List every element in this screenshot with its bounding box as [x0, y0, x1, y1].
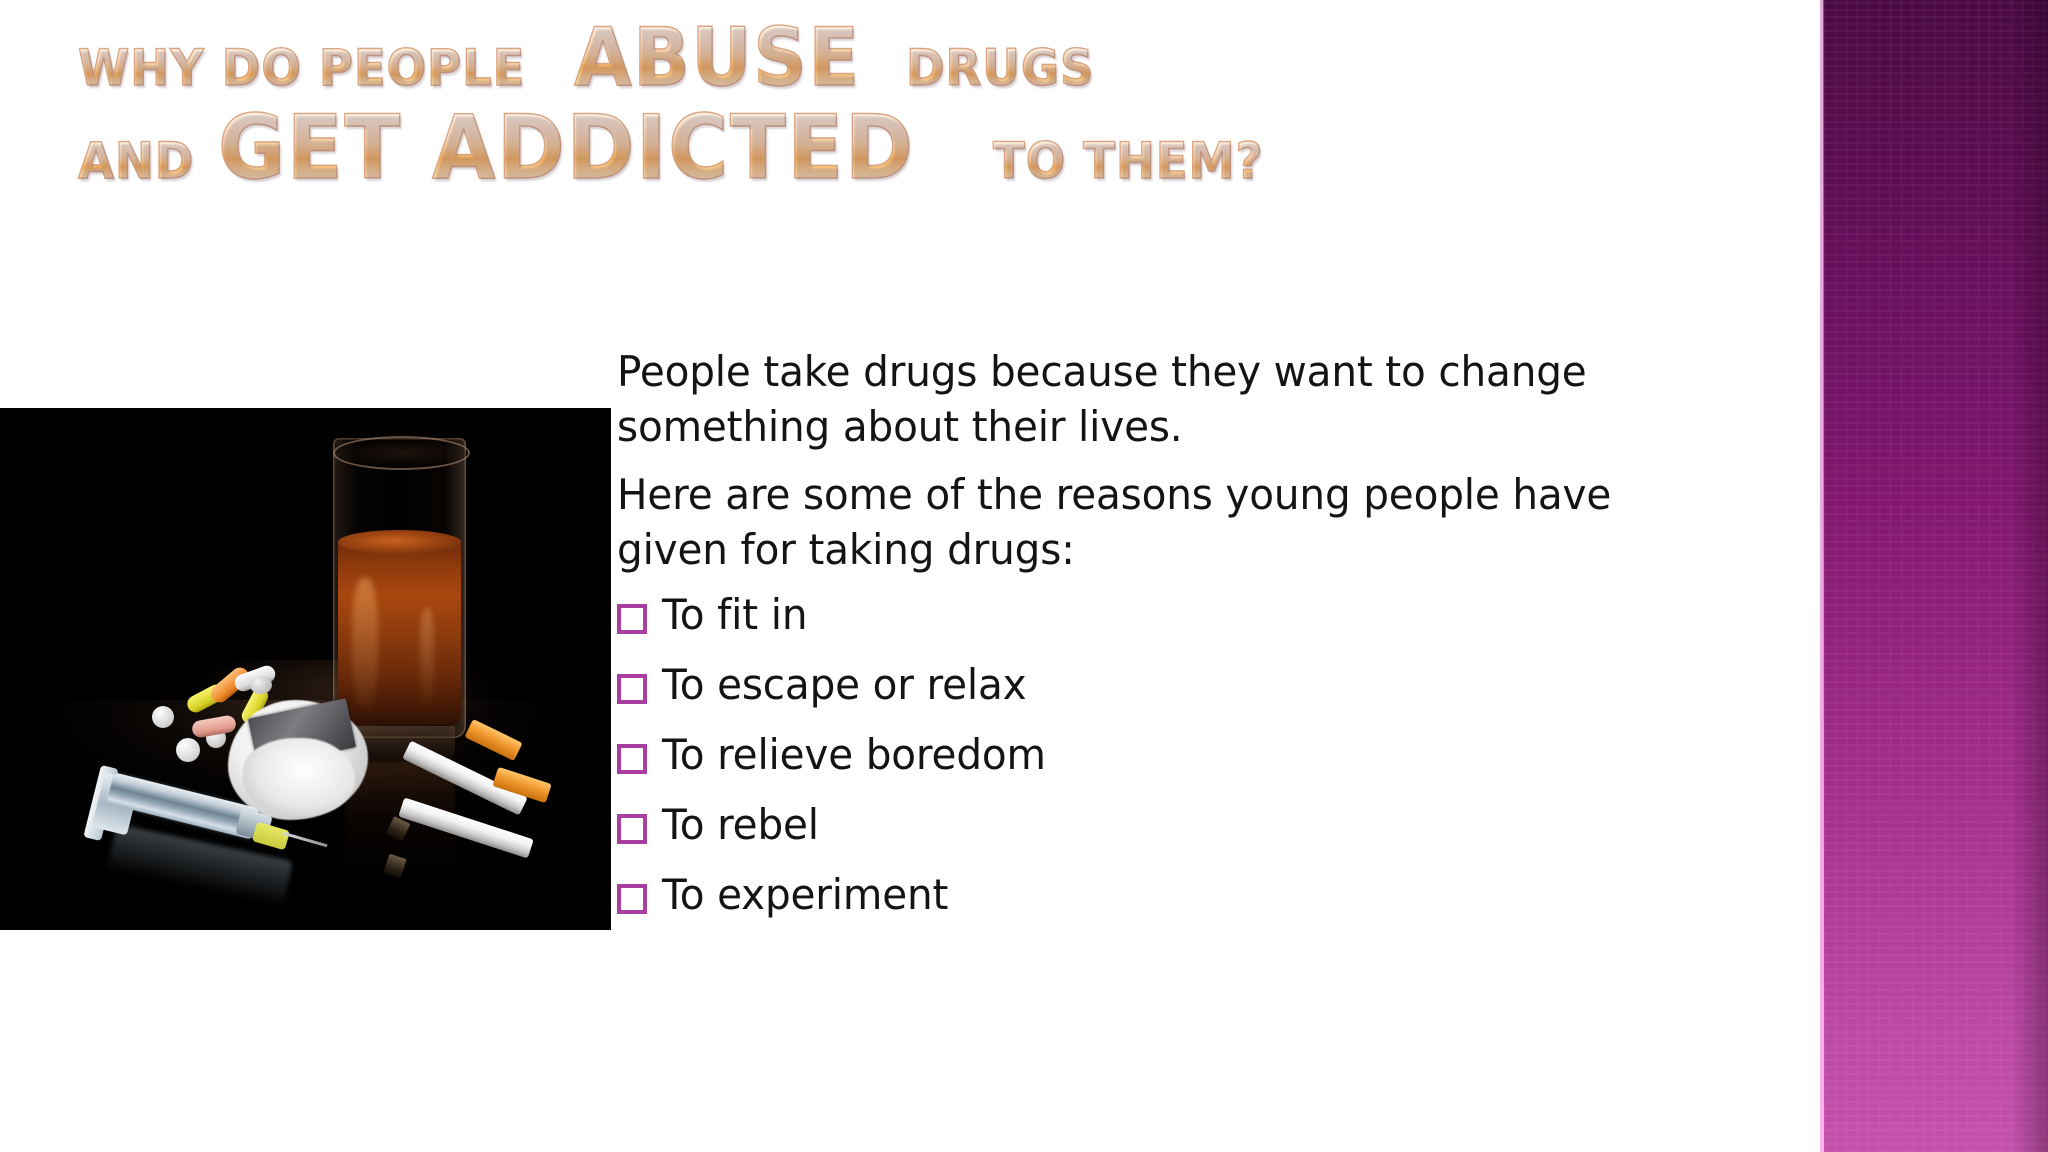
list-item: To escape or relax [617, 661, 1747, 709]
drugs-photo [0, 408, 611, 930]
list-item-label: To fit in [662, 593, 807, 637]
square-bullet-icon [617, 744, 643, 770]
photo-liquid-surface [338, 530, 461, 554]
square-bullet-icon [617, 674, 643, 700]
title-word-drugs: DRUGS [906, 43, 1094, 93]
photo-liquid-highlight-2 [420, 608, 434, 708]
photo-pill-white-2 [176, 738, 200, 762]
list-item-label: To rebel [662, 803, 819, 847]
reasons-list: To fit in To escape or relax To relieve … [617, 591, 1747, 919]
paragraph-2: Here are some of the reasons young peopl… [617, 468, 1707, 577]
title-line-2: ANDGET ADDICTEDTO THEM? [78, 104, 1378, 192]
title-word-why-do-people: WHY DO PEOPLE [78, 43, 525, 93]
photo-glass-rim [333, 436, 470, 470]
page-title: WHY DO PEOPLEABUSEDRUGS ANDGET ADDICTEDT… [78, 18, 1378, 192]
photo-pill-grey-1 [250, 676, 272, 694]
list-item: To fit in [617, 591, 1747, 639]
title-line-1: WHY DO PEOPLEABUSEDRUGS [78, 18, 1378, 98]
photo-liquid-highlight [352, 578, 378, 708]
square-bullet-icon [617, 604, 643, 630]
list-item: To relieve boredom [617, 731, 1747, 779]
list-item-label: To relieve boredom [662, 733, 1046, 777]
title-word-get-addicted: GET ADDICTED [218, 104, 914, 192]
list-item-label: To escape or relax [662, 663, 1026, 707]
photo-pill-white-1 [152, 706, 174, 728]
title-word-to-them: TO THEM? [993, 136, 1264, 186]
side-accent-band-highlight [1820, 0, 1824, 1152]
paragraph-1: People take drugs because they want to c… [617, 345, 1707, 454]
body-content: People take drugs because they want to c… [617, 345, 1747, 941]
side-accent-band [1823, 0, 2048, 1152]
list-item-label: To experiment [662, 873, 948, 917]
title-word-and: AND [78, 136, 194, 186]
photo-powder-pile-2 [243, 738, 355, 816]
square-bullet-icon [617, 884, 643, 910]
list-item: To experiment [617, 871, 1747, 919]
title-word-abuse: ABUSE [574, 18, 861, 98]
square-bullet-icon [617, 814, 643, 840]
slide-canvas: WHY DO PEOPLEABUSEDRUGS ANDGET ADDICTEDT… [0, 0, 2048, 1152]
list-item: To rebel [617, 801, 1747, 849]
